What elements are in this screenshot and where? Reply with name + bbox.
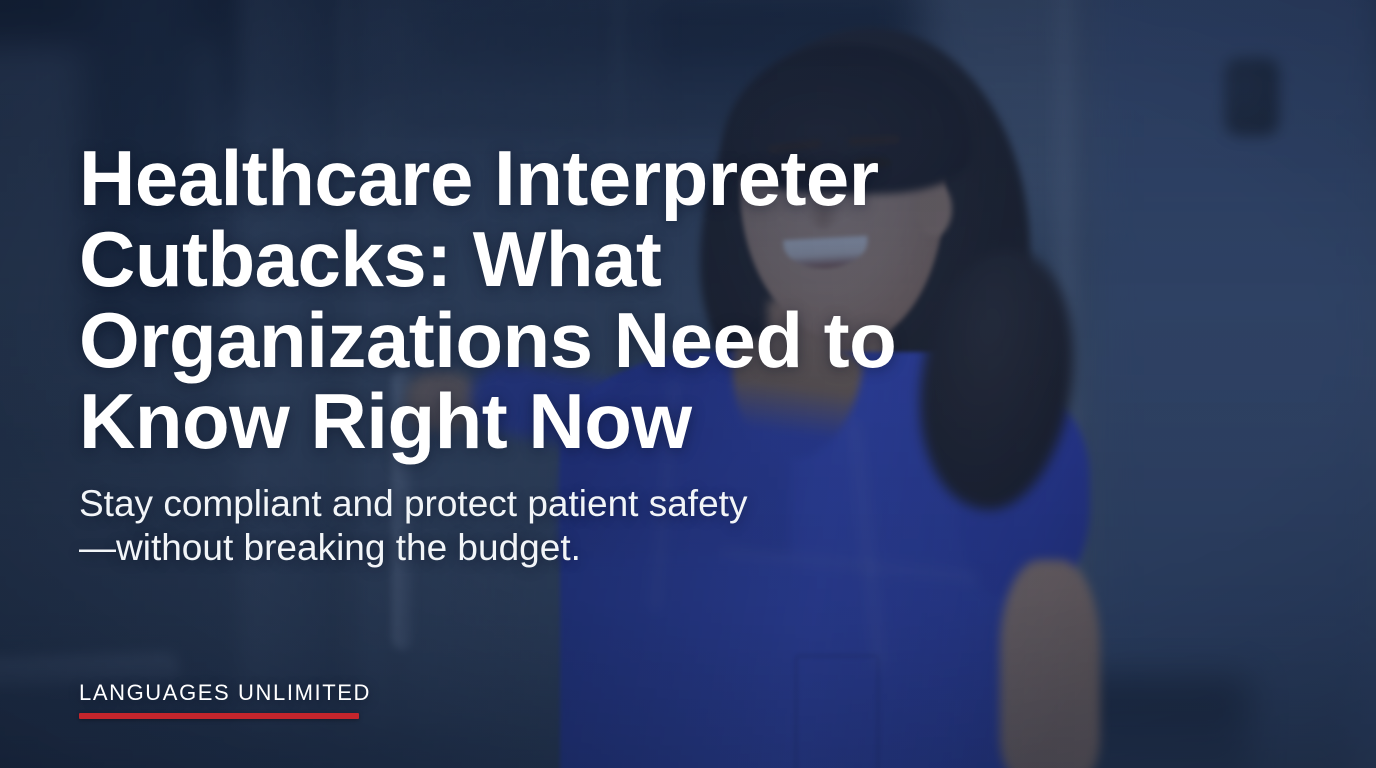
- hero-subtitle: Stay compliant and protect patient safet…: [79, 482, 779, 570]
- brand-underline-rule: [79, 713, 359, 719]
- hero-banner: Healthcare Interpreter Cutbacks: What Or…: [0, 0, 1376, 768]
- brand-name-text: LANGUAGES UNLIMITED: [79, 681, 371, 705]
- hero-content: Healthcare Interpreter Cutbacks: What Or…: [79, 0, 939, 768]
- brand-logo: LANGUAGES UNLIMITED: [79, 681, 371, 719]
- page-title: Healthcare Interpreter Cutbacks: What Or…: [79, 138, 929, 462]
